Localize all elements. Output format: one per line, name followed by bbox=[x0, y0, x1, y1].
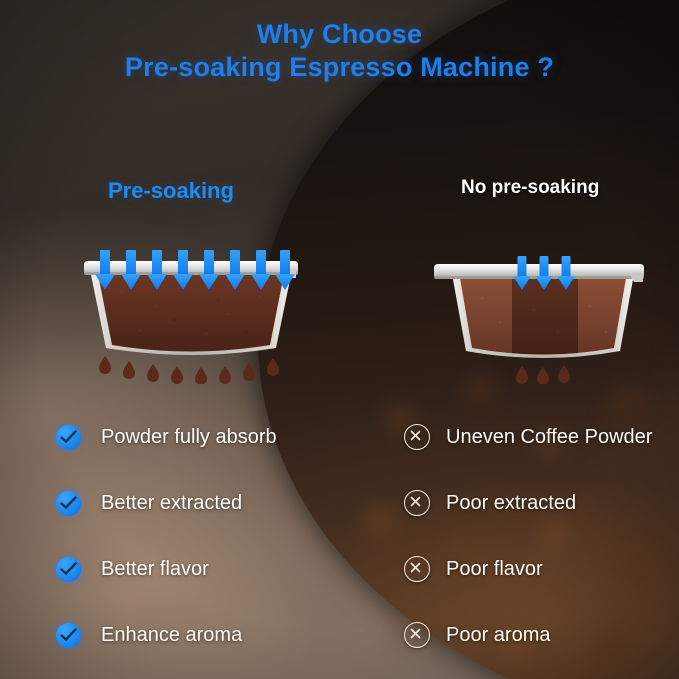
page-title: Why Choose Pre-soaking Espresso Machine … bbox=[0, 18, 679, 84]
list-item-label: Enhance aroma bbox=[101, 624, 242, 647]
list-item-label: Better extracted bbox=[101, 492, 242, 515]
title-line-2: Pre-soaking Espresso Machine ? bbox=[0, 51, 679, 84]
x-circle-icon bbox=[404, 424, 430, 450]
portafilter-basket-uneven-saturation bbox=[430, 248, 650, 384]
column-heading-pre-soaking: Pre-soaking bbox=[108, 178, 234, 204]
list-item-label: Poor extracted bbox=[446, 492, 576, 515]
check-circle-icon bbox=[56, 623, 81, 648]
drawbacks-list-no-pre-soaking: Uneven Coffee Powder Poor extracted Poor… bbox=[404, 404, 652, 668]
list-item[interactable]: Poor flavor bbox=[404, 536, 652, 602]
list-item-label: Better flavor bbox=[101, 558, 209, 581]
list-item[interactable]: Poor aroma bbox=[404, 602, 652, 668]
x-circle-icon bbox=[404, 556, 430, 582]
list-item-label: Poor flavor bbox=[446, 558, 543, 581]
list-item[interactable]: Uneven Coffee Powder bbox=[404, 404, 652, 470]
list-item[interactable]: Better flavor bbox=[56, 536, 277, 602]
title-line-1: Why Choose bbox=[0, 18, 679, 51]
benefits-list-pre-soaking: Powder fully absorb Better extracted Bet… bbox=[56, 404, 277, 668]
check-circle-icon bbox=[56, 557, 81, 582]
list-item-label: Powder fully absorb bbox=[101, 426, 277, 449]
list-item[interactable]: Powder fully absorb bbox=[56, 404, 277, 470]
infographic-canvas: Why Choose Pre-soaking Espresso Machine … bbox=[0, 0, 679, 679]
check-circle-icon bbox=[56, 491, 81, 516]
check-circle-icon bbox=[56, 425, 81, 450]
x-circle-icon bbox=[404, 622, 430, 648]
list-item-label: Uneven Coffee Powder bbox=[446, 426, 652, 449]
portafilter-basket-even-saturation bbox=[78, 244, 304, 384]
column-heading-no-pre-soaking: No pre-soaking bbox=[461, 177, 599, 199]
list-item[interactable]: Enhance aroma bbox=[56, 602, 277, 668]
list-item[interactable]: Better extracted bbox=[56, 470, 277, 536]
x-circle-icon bbox=[404, 490, 430, 516]
list-item-label: Poor aroma bbox=[446, 624, 551, 647]
list-item[interactable]: Poor extracted bbox=[404, 470, 652, 536]
